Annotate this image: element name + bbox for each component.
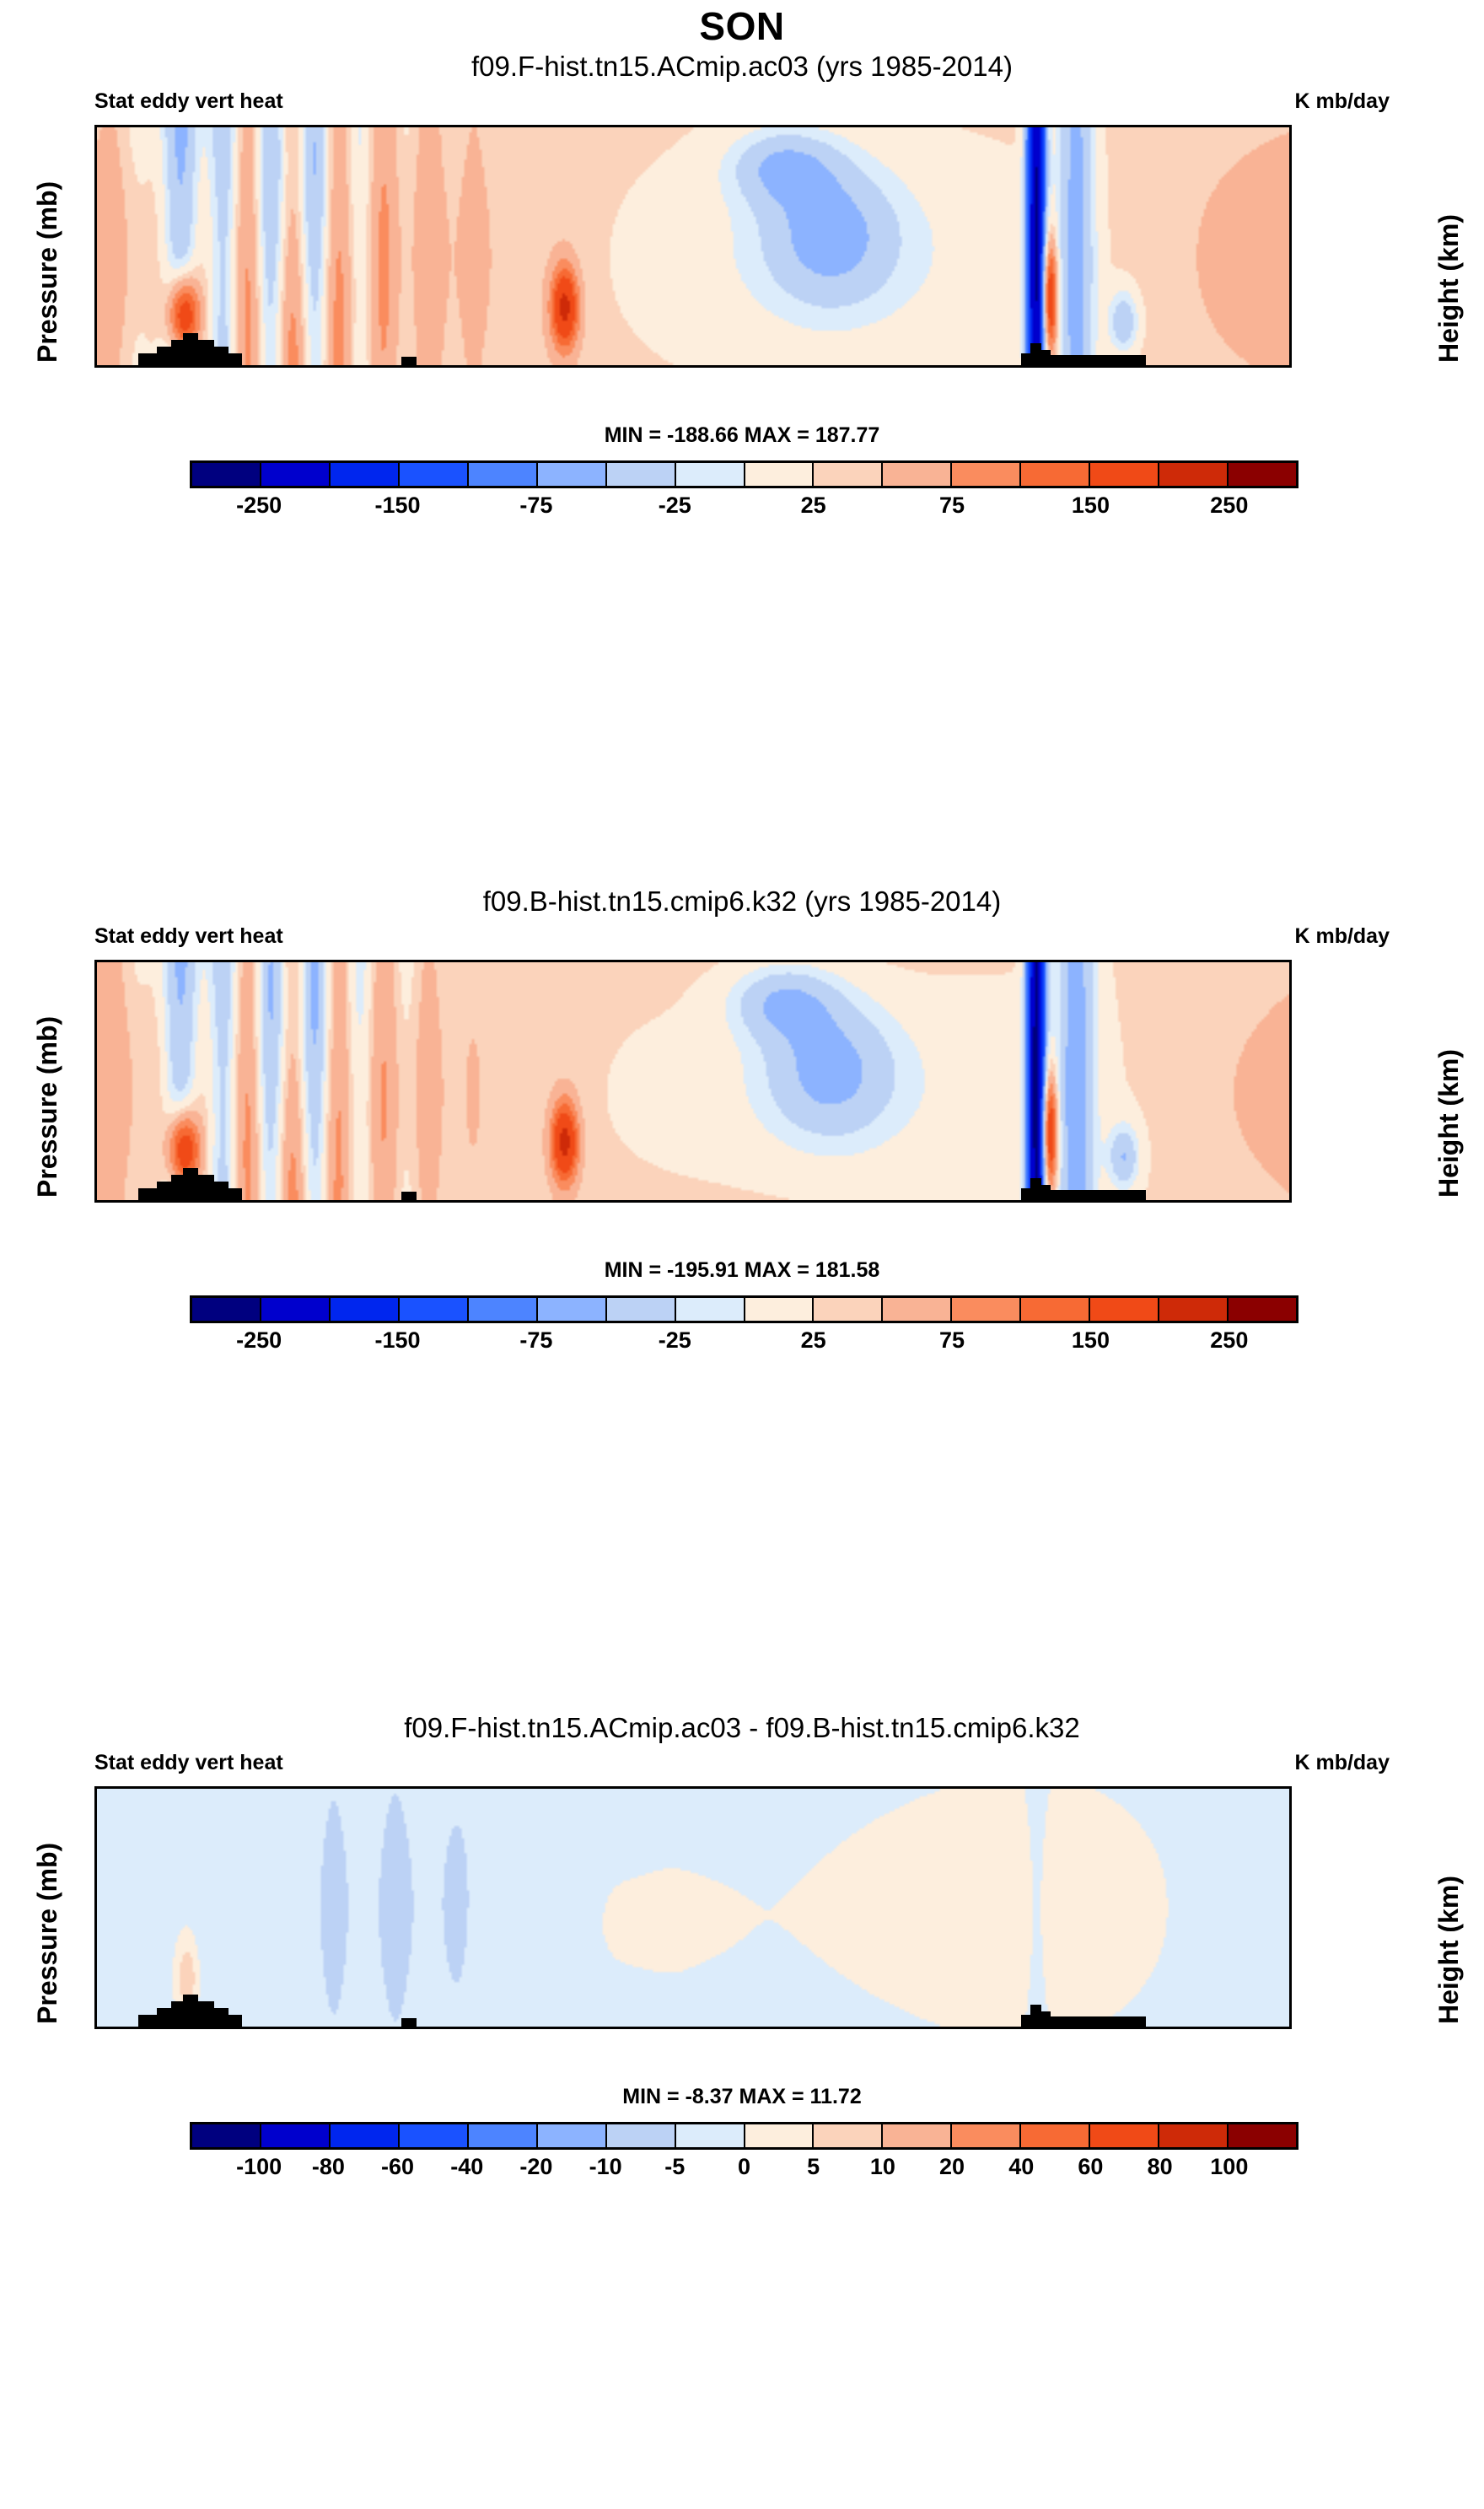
x-axis-tick xyxy=(594,125,597,127)
x-axis-tick xyxy=(196,960,198,962)
x-axis-tick xyxy=(495,365,497,368)
colorbar-swatch xyxy=(261,2124,331,2147)
terrain-mask xyxy=(1051,1190,1146,1200)
colorbar-tick-label: -150 xyxy=(347,493,449,519)
y-axis-tick xyxy=(94,1958,97,1961)
contour-field xyxy=(97,127,1289,365)
x-axis-tick xyxy=(395,1786,398,1789)
x-axis-tick xyxy=(794,960,797,962)
colorbar-swatch xyxy=(607,2124,676,2147)
colorbar-swatch xyxy=(331,463,400,486)
x-axis-tick xyxy=(894,960,896,962)
terrain-mask xyxy=(1051,355,1146,365)
y2-axis-title: Height (km) xyxy=(1433,1049,1465,1198)
colorbar-swatch xyxy=(538,1298,607,1321)
colorbar-swatch xyxy=(400,1298,469,1321)
colorbar-tick-label: 75 xyxy=(901,493,1003,519)
colorbar-tick-label: 25 xyxy=(763,493,864,519)
colorbar-swatch xyxy=(745,2124,815,2147)
x-axis-tick xyxy=(495,960,497,962)
min-max-label: MIN = -195.91 MAX = 181.58 xyxy=(0,1258,1484,1283)
field-label: Stat eddy vert heat xyxy=(94,924,283,949)
terrain-mask xyxy=(157,2008,171,2027)
x-axis-tick xyxy=(594,1786,597,1789)
y-axis-tick xyxy=(94,184,97,186)
colorbar-swatch xyxy=(1021,1298,1090,1321)
x-axis-tick xyxy=(495,125,497,127)
x-axis-tick xyxy=(594,1200,597,1203)
colorbar-swatch xyxy=(192,463,261,486)
x-axis-tick xyxy=(695,960,697,962)
x-axis-tick xyxy=(1094,1786,1096,1789)
x-axis-tick xyxy=(695,1200,697,1203)
terrain-mask xyxy=(138,353,156,365)
units-label: K mb/day xyxy=(1294,89,1390,114)
colorbar-swatch xyxy=(745,463,815,486)
x-axis-tick xyxy=(1094,960,1096,962)
x-axis-tick xyxy=(894,2027,896,2029)
y2-axis-tick xyxy=(1289,272,1292,275)
terrain-mask xyxy=(1051,2016,1146,2027)
x-axis-tick xyxy=(196,365,198,368)
min-max-label: MIN = -188.66 MAX = 187.77 xyxy=(0,423,1484,448)
terrain-mask xyxy=(229,1188,243,1200)
x-axis-tick xyxy=(96,365,99,368)
panel-title: f09.F-hist.tn15.ACmip.ac03 - f09.B-hist.… xyxy=(0,1712,1484,1744)
colorbar-tick-label: -75 xyxy=(486,493,587,519)
x-axis-tick xyxy=(794,365,797,368)
x-axis-tick xyxy=(1193,1200,1196,1203)
colorbar-swatch xyxy=(814,463,883,486)
colorbar-swatch xyxy=(1229,463,1296,486)
colorbar-swatch xyxy=(607,1298,676,1321)
terrain-mask xyxy=(157,347,171,365)
y-axis-title: Pressure (mb) xyxy=(32,181,63,363)
y-axis-tick xyxy=(94,1998,97,2000)
y-axis-tick xyxy=(94,1132,97,1134)
x-axis-tick xyxy=(695,125,697,127)
x-axis-tick xyxy=(794,2027,797,2029)
x-axis-tick xyxy=(1094,2027,1096,2029)
x-axis-tick xyxy=(1193,1786,1196,1789)
x-axis-tick xyxy=(594,2027,597,2029)
x-axis-tick xyxy=(196,2027,198,2029)
x-axis-tick xyxy=(994,1200,997,1203)
x-axis-tick xyxy=(894,125,896,127)
min-max-label: MIN = -8.37 MAX = 11.72 xyxy=(0,2085,1484,2109)
colorbar-swatch xyxy=(538,463,607,486)
colorbar-tick-label: 25 xyxy=(763,1327,864,1354)
x-axis-tick xyxy=(894,365,896,368)
y-axis-title: Pressure (mb) xyxy=(32,1016,63,1198)
terrain-mask xyxy=(1021,2015,1030,2027)
colorbar-swatch xyxy=(400,2124,469,2147)
terrain-mask xyxy=(157,1182,171,1200)
colorbar-swatch xyxy=(1090,463,1159,486)
y-axis-tick xyxy=(94,229,97,232)
terrain-mask xyxy=(401,2018,417,2027)
colorbar-tick-label: -75 xyxy=(486,1327,587,1354)
x-axis-tick xyxy=(96,960,99,962)
x-axis-tick xyxy=(594,960,597,962)
y-axis-tick xyxy=(94,127,97,129)
x-axis-tick xyxy=(794,1200,797,1203)
x-axis-tick xyxy=(1193,125,1196,127)
y-axis-title: Pressure (mb) xyxy=(32,1843,63,2024)
x-axis-tick xyxy=(295,125,298,127)
x-axis-tick xyxy=(96,2027,99,2029)
colorbar-swatch xyxy=(1159,2124,1229,2147)
y2-axis-title: Height (km) xyxy=(1433,1876,1465,2024)
terrain-mask xyxy=(183,1995,198,2027)
terrain-mask xyxy=(138,1188,156,1200)
x-axis-tick xyxy=(994,365,997,368)
colorbar-swatch xyxy=(952,463,1021,486)
colorbar-tick-label: 250 xyxy=(1179,493,1280,519)
colorbar-tick-label: -250 xyxy=(208,1327,309,1354)
terrain-mask xyxy=(183,1168,198,1200)
terrain-mask xyxy=(171,1175,183,1200)
x-axis-tick xyxy=(395,365,398,368)
colorbar-labels: -250-150-75-252575150250 xyxy=(190,1327,1298,1361)
colorbar-swatch xyxy=(952,1298,1021,1321)
colorbar-swatch xyxy=(1021,463,1090,486)
colorbar-swatch xyxy=(1021,2124,1090,2147)
x-axis-tick xyxy=(96,1786,99,1789)
x-axis-tick xyxy=(1094,365,1096,368)
field-label: Stat eddy vert heat xyxy=(94,89,283,114)
contour-plot-area: 300400500700850100084060E120E180120W60W xyxy=(94,125,1292,368)
y2-axis-tick xyxy=(1289,1934,1292,1936)
panel-title: f09.F-hist.tn15.ACmip.ac03 (yrs 1985-201… xyxy=(0,51,1484,83)
y2-axis-title: Height (km) xyxy=(1433,214,1465,363)
x-axis-tick xyxy=(295,1786,298,1789)
x-axis-tick xyxy=(894,1786,896,1789)
x-axis-tick xyxy=(1193,960,1196,962)
colorbar-swatch xyxy=(469,1298,538,1321)
terrain-mask xyxy=(171,2001,183,2027)
x-axis-tick xyxy=(695,1786,697,1789)
x-axis-tick xyxy=(794,1786,797,1789)
terrain-mask xyxy=(1041,2011,1051,2027)
x-axis-tick xyxy=(395,960,398,962)
x-axis-tick xyxy=(495,2027,497,2029)
colorbar-tick-label: -250 xyxy=(208,493,309,519)
colorbar xyxy=(190,1295,1298,1323)
colorbar-labels: -250-150-75-252575150250 xyxy=(190,493,1298,526)
terrain-mask xyxy=(214,1182,229,1200)
colorbar-swatch xyxy=(1090,1298,1159,1321)
colorbar-swatch xyxy=(1090,2124,1159,2147)
x-axis-tick xyxy=(295,1200,298,1203)
colorbar-swatch xyxy=(331,1298,400,1321)
colorbar-swatch xyxy=(261,463,331,486)
colorbar-swatch xyxy=(676,463,745,486)
x-axis-tick xyxy=(1094,125,1096,127)
colorbar-swatch xyxy=(883,1298,952,1321)
contour-field xyxy=(97,1789,1289,2027)
terrain-mask xyxy=(1021,1188,1030,1200)
terrain-mask xyxy=(1021,353,1030,365)
colorbar-swatch xyxy=(952,2124,1021,2147)
colorbar-swatch xyxy=(883,463,952,486)
terrain-mask xyxy=(1030,343,1041,365)
colorbar-swatch xyxy=(1159,1298,1229,1321)
y-axis-tick xyxy=(94,297,97,299)
x-axis-tick xyxy=(994,1786,997,1789)
y-axis-tick xyxy=(94,1019,97,1021)
terrain-mask xyxy=(171,340,183,365)
y-axis-tick xyxy=(94,961,97,964)
units-label: K mb/day xyxy=(1294,1751,1390,1775)
y-axis-tick xyxy=(94,1064,97,1067)
colorbar-tick-label: 100 xyxy=(1179,2154,1280,2180)
y2-axis-tick xyxy=(1289,995,1292,998)
y2-axis-tick xyxy=(1289,1822,1292,1824)
colorbar-swatch xyxy=(1159,463,1229,486)
units-label: K mb/day xyxy=(1294,924,1390,949)
colorbar-swatch xyxy=(1229,2124,1296,2147)
x-axis-tick xyxy=(1193,2027,1196,2029)
terrain-mask xyxy=(401,1192,417,1200)
terrain-mask xyxy=(1041,1185,1051,1200)
x-axis-tick xyxy=(695,2027,697,2029)
colorbar-swatch xyxy=(1229,1298,1296,1321)
contour-plot-area: 300400500700850100084060E120E180120W60W xyxy=(94,1786,1292,2029)
colorbar-swatch xyxy=(400,463,469,486)
y2-axis-tick xyxy=(1289,1107,1292,1110)
colorbar-swatch xyxy=(676,2124,745,2147)
terrain-mask xyxy=(198,1175,213,1200)
colorbar-swatch xyxy=(331,2124,400,2147)
terrain-mask xyxy=(198,340,213,365)
y-axis-tick xyxy=(94,1171,97,1174)
colorbar-tick-label: -150 xyxy=(347,1327,449,1354)
x-axis-tick xyxy=(894,1200,896,1203)
x-axis-tick xyxy=(994,125,997,127)
terrain-mask xyxy=(183,333,198,365)
y-axis-tick xyxy=(94,1891,97,1893)
x-axis-tick xyxy=(196,1200,198,1203)
colorbar-swatch xyxy=(883,2124,952,2147)
y2-axis-tick xyxy=(1289,160,1292,163)
colorbar xyxy=(190,460,1298,488)
x-axis-tick xyxy=(295,960,298,962)
x-axis-tick xyxy=(395,125,398,127)
x-axis-tick xyxy=(495,1200,497,1203)
panel-title: f09.B-hist.tn15.cmip6.k32 (yrs 1985-2014… xyxy=(0,886,1484,918)
x-axis-tick xyxy=(1094,1200,1096,1203)
colorbar-swatch xyxy=(814,2124,883,2147)
field-label: Stat eddy vert heat xyxy=(94,1751,283,1775)
x-axis-tick xyxy=(695,365,697,368)
colorbar xyxy=(190,2122,1298,2150)
colorbar-swatch xyxy=(745,1298,815,1321)
x-axis-tick xyxy=(594,365,597,368)
colorbar-tick-label: -25 xyxy=(624,493,725,519)
y-axis-tick xyxy=(94,337,97,339)
terrain-mask xyxy=(138,2015,156,2027)
colorbar-tick-label: 75 xyxy=(901,1327,1003,1354)
colorbar-swatch xyxy=(538,2124,607,2147)
terrain-mask xyxy=(198,2001,213,2027)
y-axis-tick xyxy=(94,1845,97,1848)
contour-field xyxy=(97,962,1289,1200)
colorbar-swatch xyxy=(261,1298,331,1321)
x-axis-tick xyxy=(495,1786,497,1789)
colorbar-swatch xyxy=(676,1298,745,1321)
colorbar-tick-label: 250 xyxy=(1179,1327,1280,1354)
terrain-mask xyxy=(1041,350,1051,365)
colorbar-swatch xyxy=(607,463,676,486)
terrain-mask xyxy=(1030,2005,1041,2027)
x-axis-tick xyxy=(1193,365,1196,368)
x-axis-tick xyxy=(295,2027,298,2029)
x-axis-tick xyxy=(395,2027,398,2029)
colorbar-labels: -100-80-60-40-20-10-5051020406080100 xyxy=(190,2154,1298,2188)
x-axis-tick xyxy=(196,125,198,127)
season-title: SON xyxy=(0,3,1484,49)
terrain-mask xyxy=(229,353,243,365)
x-axis-tick xyxy=(994,960,997,962)
terrain-mask xyxy=(214,2008,229,2027)
colorbar-tick-label: -25 xyxy=(624,1327,725,1354)
x-axis-tick xyxy=(994,2027,997,2029)
terrain-mask xyxy=(401,357,417,365)
colorbar-swatch xyxy=(192,2124,261,2147)
x-axis-tick xyxy=(794,125,797,127)
colorbar-swatch xyxy=(814,1298,883,1321)
x-axis-tick xyxy=(96,1200,99,1203)
contour-plot-area: 300400500700850100084060E120E180120W60W xyxy=(94,960,1292,1203)
x-axis-tick xyxy=(295,365,298,368)
x-axis-tick xyxy=(395,1200,398,1203)
colorbar-tick-label: 150 xyxy=(1040,1327,1141,1354)
colorbar-swatch xyxy=(469,2124,538,2147)
terrain-mask xyxy=(214,347,229,365)
colorbar-tick-label: 150 xyxy=(1040,493,1141,519)
terrain-mask xyxy=(1030,1178,1041,1200)
colorbar-swatch xyxy=(469,463,538,486)
y-axis-tick xyxy=(94,1788,97,1790)
x-axis-tick xyxy=(196,1786,198,1789)
x-axis-tick xyxy=(96,125,99,127)
colorbar-swatch xyxy=(192,1298,261,1321)
terrain-mask xyxy=(229,2015,243,2027)
